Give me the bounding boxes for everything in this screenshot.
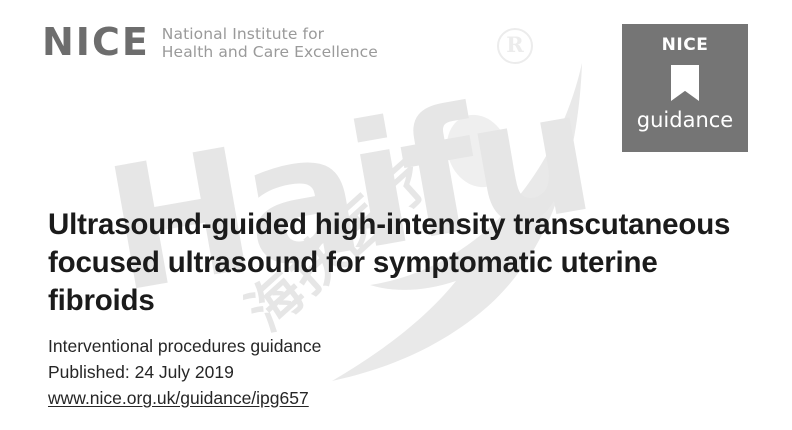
published-date-label: Published: 24 July 2019 bbox=[48, 359, 321, 385]
badge-title: NICE bbox=[662, 35, 709, 55]
page-title: Ultrasound-guided high-intensity transcu… bbox=[48, 206, 754, 320]
nice-logo-strapline-line1: National Institute for bbox=[162, 25, 324, 43]
document-metadata: Interventional procedures guidance Publi… bbox=[48, 333, 321, 411]
guidance-url-link[interactable]: www.nice.org.uk/guidance/ipg657 bbox=[48, 385, 321, 411]
guidance-url-anchor[interactable]: www.nice.org.uk/guidance/ipg657 bbox=[48, 388, 309, 408]
nice-logo-wordmark: NICE bbox=[42, 22, 150, 62]
bookmark-icon bbox=[671, 65, 699, 101]
document-page: R Haifu 海扶医疗 NICE National Institute for… bbox=[0, 0, 792, 430]
nice-logo-strapline-line2: Health and Care Excellence bbox=[162, 43, 378, 61]
badge-subtitle: guidance bbox=[637, 108, 733, 132]
guidance-type-label: Interventional procedures guidance bbox=[48, 333, 321, 359]
nice-logo-strapline: National Institute for Health and Care E… bbox=[162, 25, 378, 61]
nice-logo: NICE National Institute for Health and C… bbox=[42, 22, 378, 62]
nice-guidance-badge: NICE guidance bbox=[622, 24, 748, 152]
registered-trademark-icon: R bbox=[497, 28, 533, 64]
